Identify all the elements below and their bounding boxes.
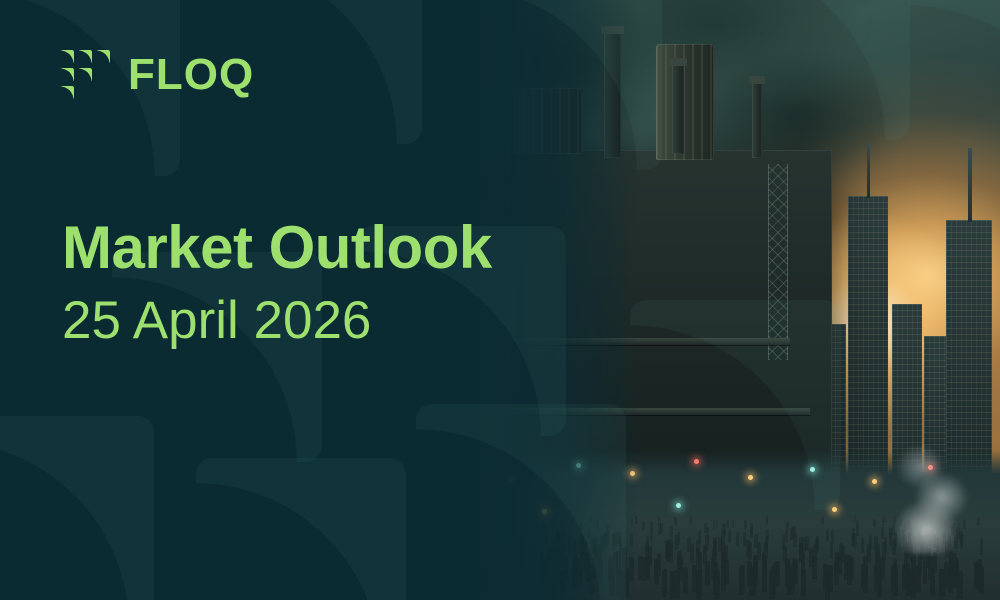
crowd-figure <box>660 523 663 533</box>
crowd-figure <box>851 533 854 547</box>
crowd-figure <box>739 567 744 595</box>
crowd-figure <box>801 552 806 574</box>
crowd-figure <box>773 562 778 587</box>
crowd-figure <box>791 526 794 538</box>
crowd-figure <box>721 565 726 592</box>
headline-block: Market Outlook 25 April 2026 <box>62 216 492 350</box>
crowd-figure <box>643 557 648 581</box>
crowd-figure <box>861 538 865 554</box>
crowd-figure <box>930 568 935 596</box>
crowd-figure <box>826 530 829 543</box>
crowd-figure <box>703 545 707 564</box>
crowd-figure <box>675 535 679 550</box>
crowd-figure <box>690 516 693 524</box>
logo-cell <box>60 86 74 100</box>
logo-cell <box>78 68 92 82</box>
crowd-figure <box>713 539 717 556</box>
crowd-figure <box>892 564 897 590</box>
crowd-figure <box>802 537 806 553</box>
logo-cell-empty <box>96 86 110 100</box>
crowd-figure <box>861 564 866 590</box>
crowd-figure <box>650 521 653 531</box>
crowd-figure <box>646 536 650 551</box>
steam-plume <box>882 436 978 554</box>
crowd-figure <box>732 519 735 528</box>
crowd-figure <box>746 540 750 557</box>
logo-cell <box>96 50 110 64</box>
crowd-figure <box>670 527 673 539</box>
page-date: 25 April 2026 <box>62 291 492 350</box>
crowd-figure <box>713 520 716 529</box>
crowd-figure <box>854 515 857 522</box>
crowd-figure <box>786 521 789 530</box>
crowd-figure <box>714 570 719 599</box>
crowd-figure <box>975 564 980 590</box>
crowd-figure <box>724 545 728 564</box>
crowd-figure <box>650 529 653 542</box>
crowd-figure <box>666 540 670 557</box>
crowd-figure <box>642 521 645 531</box>
floq-grid-corner-icon <box>60 50 110 100</box>
crowd-figure <box>792 558 797 582</box>
crowd-figure <box>697 569 702 597</box>
market-outlook-banner: FLOQ Market Outlook 25 April 2026 <box>0 0 1000 600</box>
crowd-figure <box>980 539 984 555</box>
crowd-figure <box>678 557 683 581</box>
crowd-figure <box>877 569 882 597</box>
logo-cell <box>78 50 92 64</box>
crowd-figure <box>762 556 767 579</box>
crowd-figure <box>911 569 916 597</box>
crowd-figure <box>654 559 659 583</box>
crowd-figure <box>812 556 817 579</box>
crowd-figure <box>753 561 758 586</box>
crowd-figure <box>662 569 667 597</box>
crowd-figure <box>873 519 876 528</box>
crowd-figure <box>736 532 739 546</box>
logo-cell-empty <box>96 68 110 82</box>
brand-wordmark: FLOQ <box>128 53 254 97</box>
crowd-figure <box>876 544 880 562</box>
crowd-figure <box>783 545 787 564</box>
crowd-figure <box>683 567 688 594</box>
crowd-figure <box>785 530 788 543</box>
crowd-figure <box>726 520 729 529</box>
crowd-figure <box>750 523 753 533</box>
crowd-figure <box>674 517 677 525</box>
crowd-figure <box>825 571 831 600</box>
crowd-figure <box>716 519 719 528</box>
page-title: Market Outlook <box>62 216 492 281</box>
crowd-figure <box>706 527 709 539</box>
crowd-figure <box>744 520 747 529</box>
crowd-figure <box>856 520 859 529</box>
logo-cell-empty <box>78 86 92 100</box>
crowd-figure <box>722 523 725 533</box>
logo-cell <box>60 68 74 82</box>
crowd-figure <box>953 562 958 588</box>
crowd-figure <box>766 518 769 526</box>
crowd-figure <box>728 530 731 543</box>
crowd-figure <box>837 553 842 575</box>
crowd-figure <box>705 561 710 586</box>
crowd-figure <box>754 534 758 548</box>
brand-logo[interactable]: FLOQ <box>60 50 254 100</box>
logo-cell <box>60 50 74 64</box>
crowd-figure <box>793 533 797 547</box>
crowd-figure <box>821 517 824 525</box>
crowd-figure <box>844 556 849 579</box>
crowd-figure <box>830 542 834 560</box>
crowd-figure <box>690 544 694 563</box>
